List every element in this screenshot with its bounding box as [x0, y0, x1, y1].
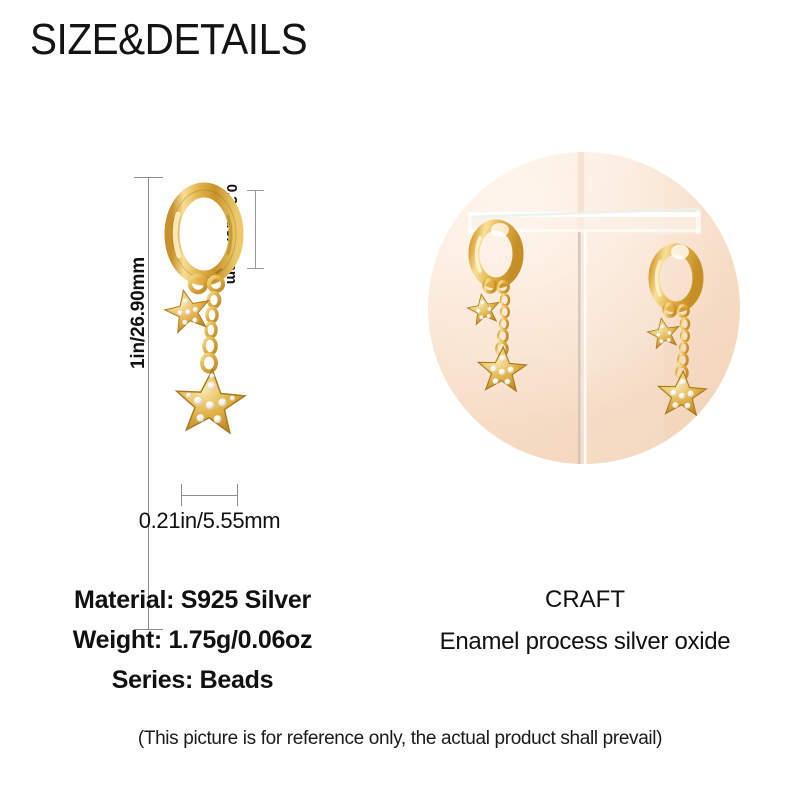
spec-series: Series: Beads [20, 666, 365, 695]
earring-back-left [491, 223, 509, 237]
spec-material: Material: S925 Silver [20, 586, 365, 615]
specs-left-column: Material: S925 Silver Weight: 1.75g/0.06… [20, 586, 365, 706]
product-photo-image [428, 152, 740, 464]
width-dimension-line [181, 495, 238, 496]
earring-back-right [671, 245, 689, 260]
craft-heading: CRAFT [380, 586, 790, 614]
craft-description: Enamel process silver oxide [380, 628, 790, 656]
product-photo [428, 152, 740, 464]
disclaimer-text: (This picture is for reference only, the… [0, 728, 800, 750]
size-diagram: 1in/26.90mm 0.35in/8.45mm [90, 150, 340, 550]
spec-weight: Weight: 1.75g/0.06oz [20, 626, 365, 655]
width-dimension-cap-right [237, 484, 238, 506]
page-title: SIZE&DETAILS [30, 18, 307, 62]
height-dimension-line [148, 177, 149, 629]
width-dimension-label: 0.21in/5.55mm [57, 508, 362, 534]
earring-diagram-icon [158, 172, 288, 532]
specs-right-column: CRAFT Enamel process silver oxide [380, 586, 790, 656]
height-dimension-label: 1in/26.90mm [128, 257, 150, 369]
